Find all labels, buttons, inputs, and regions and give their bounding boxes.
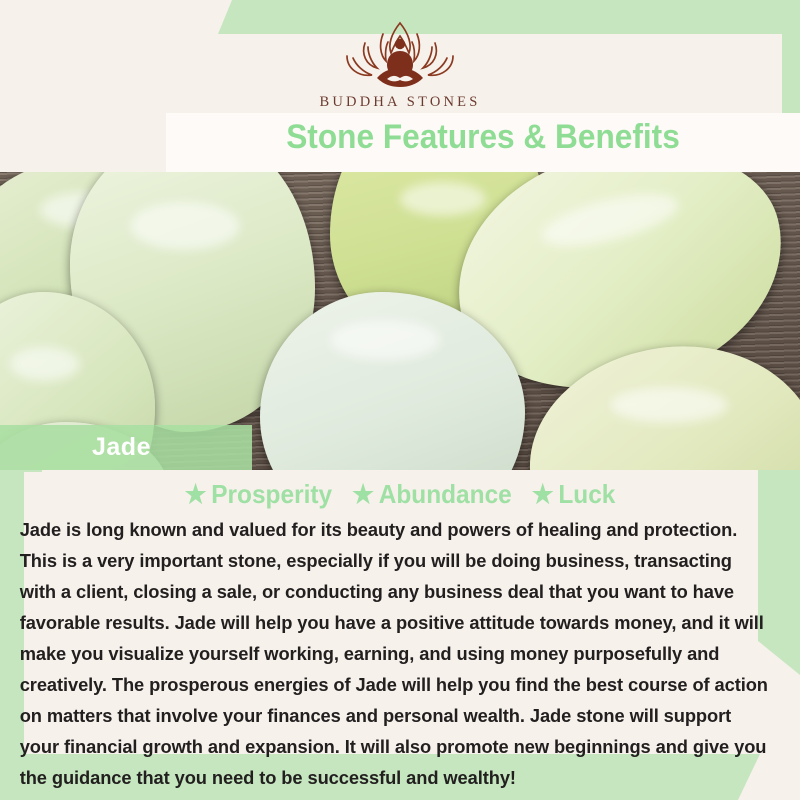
star-icon: ★ [185, 479, 207, 509]
lotus-meditation-icon [0, 18, 800, 92]
brand-name: BUDDHA STONES [0, 94, 800, 111]
stone-name-badge: Jade [0, 425, 252, 470]
stone-description: Jade is long known and valued for its be… [0, 514, 788, 793]
star-icon: ★ [352, 479, 374, 509]
stone-info-poster: BUDDHA STONES Jade Stone Features & Bene… [0, 0, 800, 800]
benefit-label: Luck [558, 479, 615, 509]
benefit-label: Prosperity [211, 479, 332, 509]
brand-logo: BUDDHA STONES [0, 18, 800, 111]
benefit-item-prosperity: ★Prosperity [185, 479, 333, 510]
page-title: Stone Features & Benefits [188, 118, 778, 157]
benefit-item-luck: ★Luck [532, 479, 616, 510]
poster-content: ★Prosperity ★Abundance ★Luck Jade is lon… [0, 470, 800, 793]
benefits-list: ★Prosperity ★Abundance ★Luck [24, 479, 776, 510]
benefit-item-abundance: ★Abundance [352, 479, 512, 510]
stone-name-label: Jade [92, 433, 151, 462]
benefit-label: Abundance [379, 479, 512, 509]
star-icon: ★ [532, 479, 554, 509]
